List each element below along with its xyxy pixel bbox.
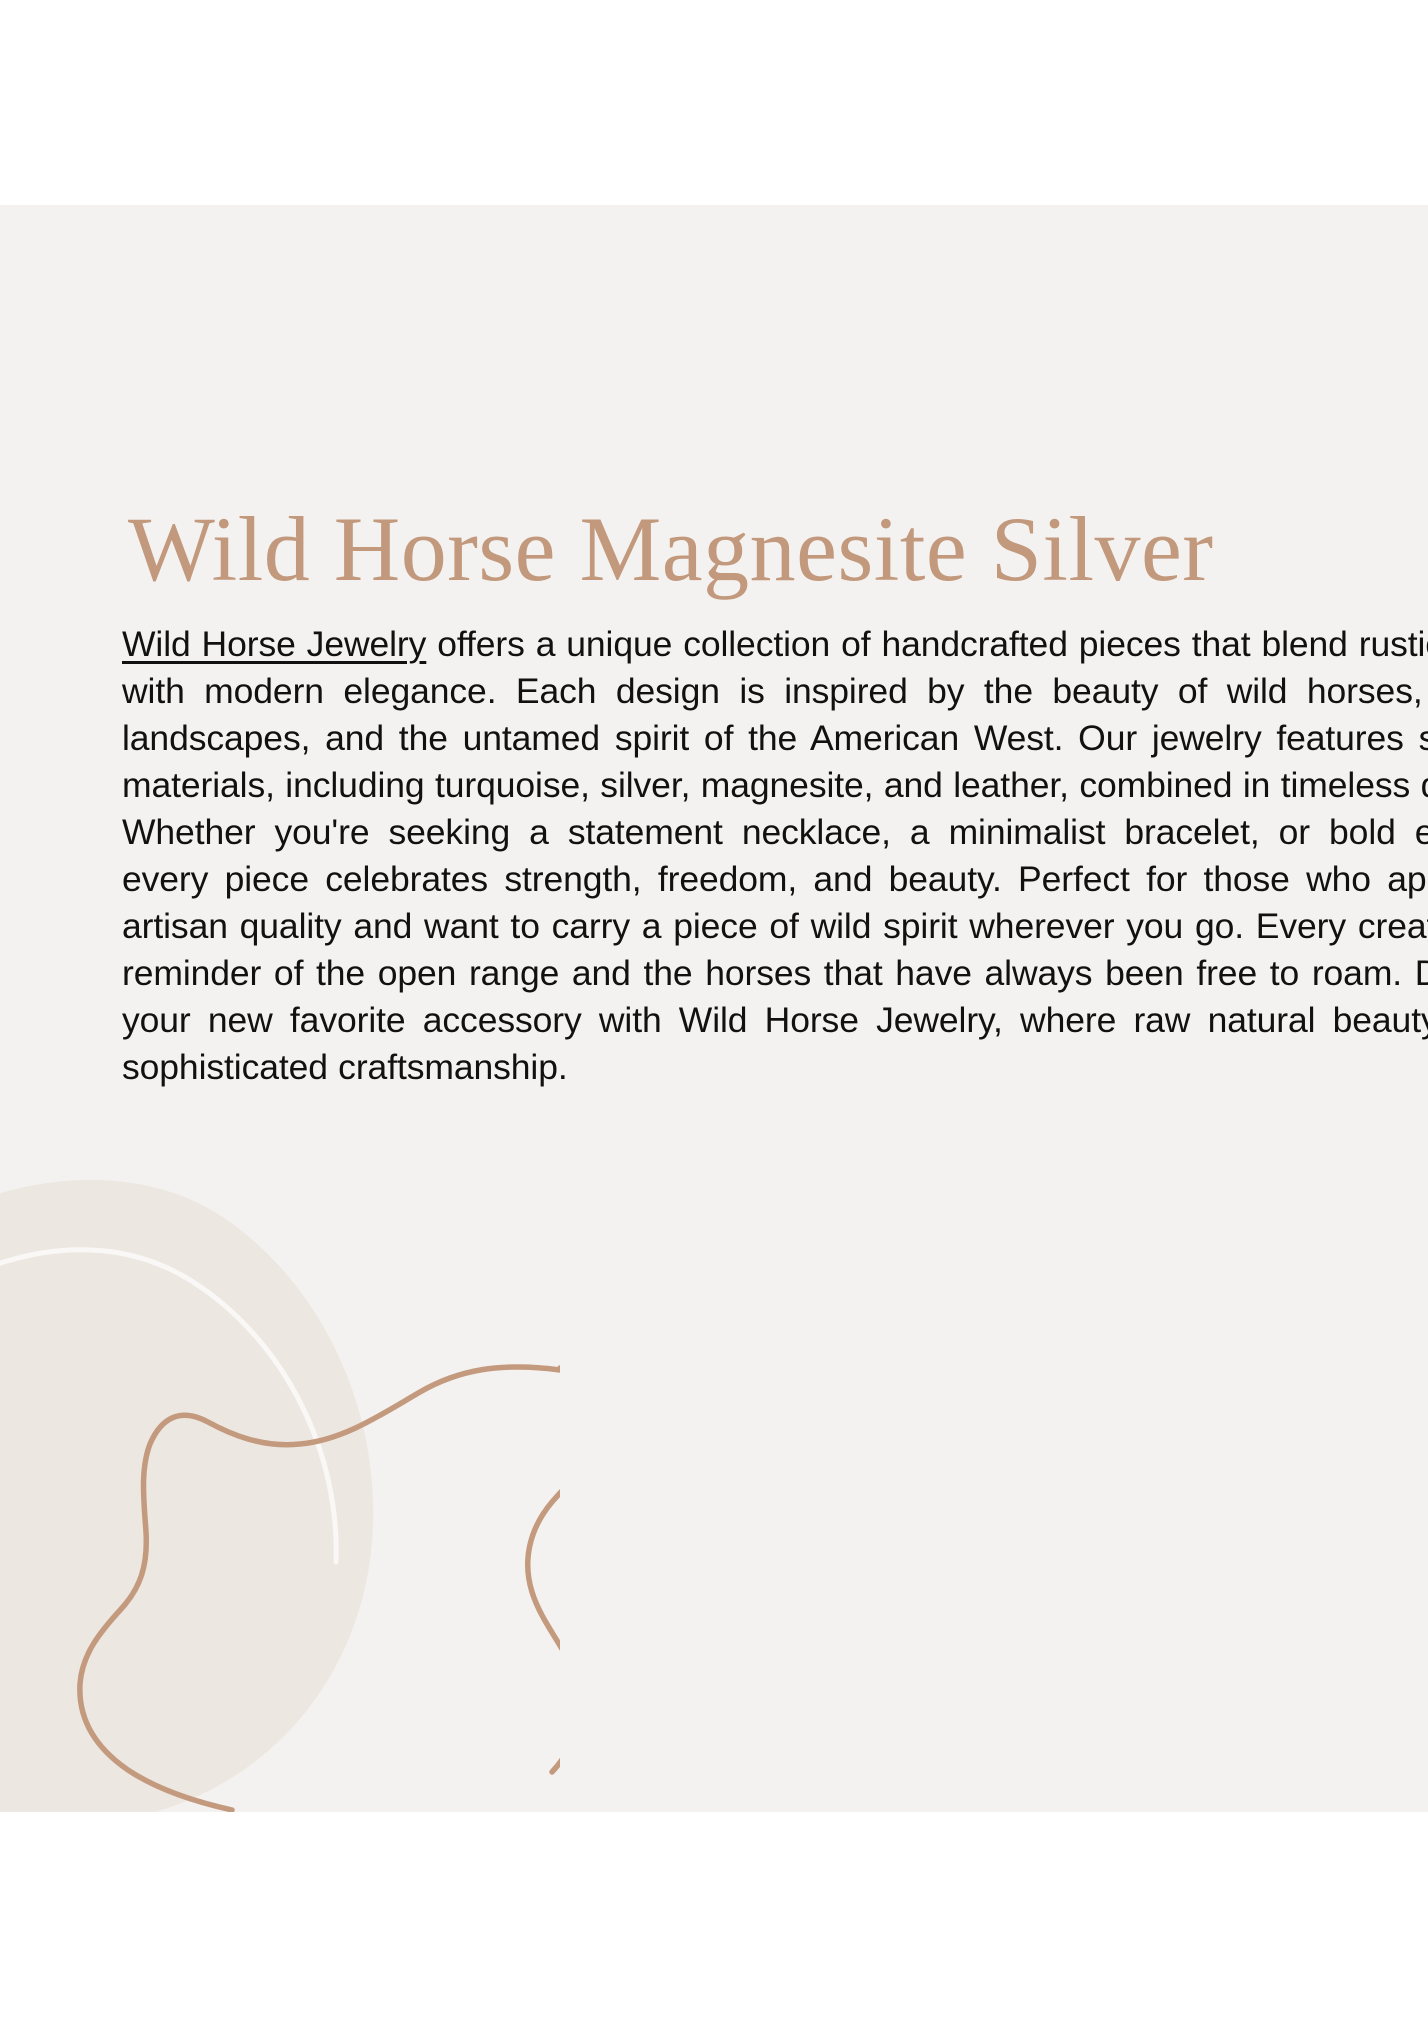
page-title: Wild Horse Magnesite Silver <box>128 501 1428 599</box>
screenshot-canvas: Wild Horse Magnesite Silver Wild Horse J… <box>0 0 1428 2018</box>
wild-horse-jewelry-link[interactable]: Wild Horse Jewelry <box>122 624 426 664</box>
article-paragraph: Wild Horse Jewelry offers a unique colle… <box>122 621 1428 1091</box>
document-page: Wild Horse Magnesite Silver Wild Horse J… <box>0 205 1428 1812</box>
article-body-text: offers a unique collection of handcrafte… <box>122 624 1428 1087</box>
page-content: Wild Horse Magnesite Silver Wild Horse J… <box>0 205 1428 1812</box>
